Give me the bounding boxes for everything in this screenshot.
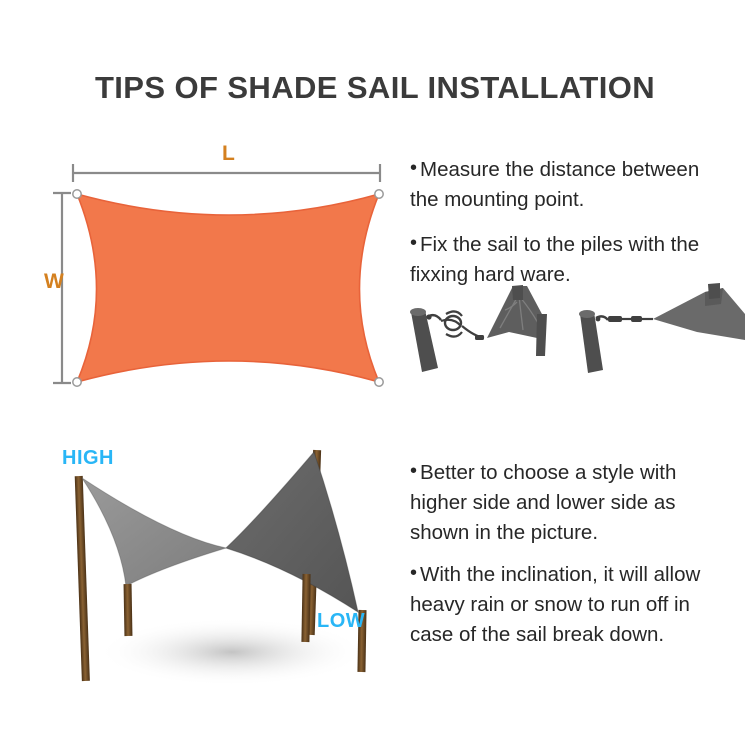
tip-text: Fix the sail to the piles with the xyxy=(420,233,699,256)
length-dimension-line xyxy=(73,164,380,182)
infographic-page: TIPS OF SHADE SAIL INSTALLATION xyxy=(0,0,750,750)
shade-sail-dark xyxy=(226,452,358,612)
shade-sail-light xyxy=(82,478,226,586)
high-side-label: HIGH xyxy=(62,447,114,470)
width-label: W xyxy=(44,270,64,294)
tip-text: With the inclination, it will allow xyxy=(420,563,700,586)
low-side-label: LOW xyxy=(317,610,365,633)
tip-fix-sail: •Fix the sail to the piles with the fixx… xyxy=(410,230,699,290)
shade-sail-svg xyxy=(40,140,400,400)
bullet-icon: • xyxy=(410,228,417,258)
length-label: L xyxy=(222,142,235,166)
tip-line: •Fix the sail to the piles with the xyxy=(410,230,699,260)
orange-sail-body xyxy=(77,194,379,382)
inclination-svg xyxy=(40,440,420,705)
tip-line: fixxing hard ware. xyxy=(410,260,699,290)
tip-line: the mounting point. xyxy=(410,185,699,215)
tip-line: case of the sail break down. xyxy=(410,620,700,650)
bullet-icon: • xyxy=(410,153,417,183)
tips-text-column: •Measure the distance between the mounti… xyxy=(410,0,750,750)
tip-line: •Better to choose a style with xyxy=(410,458,676,488)
tip-text: Measure the distance between xyxy=(420,158,699,181)
tip-line: heavy rain or snow to run off in xyxy=(410,590,700,620)
tip-measure-distance: •Measure the distance between the mounti… xyxy=(410,155,699,215)
tip-line: •With the inclination, it will allow xyxy=(410,560,700,590)
shade-sail-dimension-diagram: L W xyxy=(40,140,400,400)
bullet-icon: • xyxy=(410,456,417,486)
tip-line: shown in the picture. xyxy=(410,518,676,548)
inclination-diagram: HIGH LOW xyxy=(40,440,420,705)
tip-inclination: •With the inclination, it will allow hea… xyxy=(410,560,700,650)
tip-choose-style: •Better to choose a style with higher si… xyxy=(410,458,676,548)
tip-line: higher side and lower side as xyxy=(410,488,676,518)
bullet-icon: • xyxy=(410,558,417,588)
tip-text: Better to choose a style with xyxy=(420,461,676,484)
tip-line: •Measure the distance between xyxy=(410,155,699,185)
